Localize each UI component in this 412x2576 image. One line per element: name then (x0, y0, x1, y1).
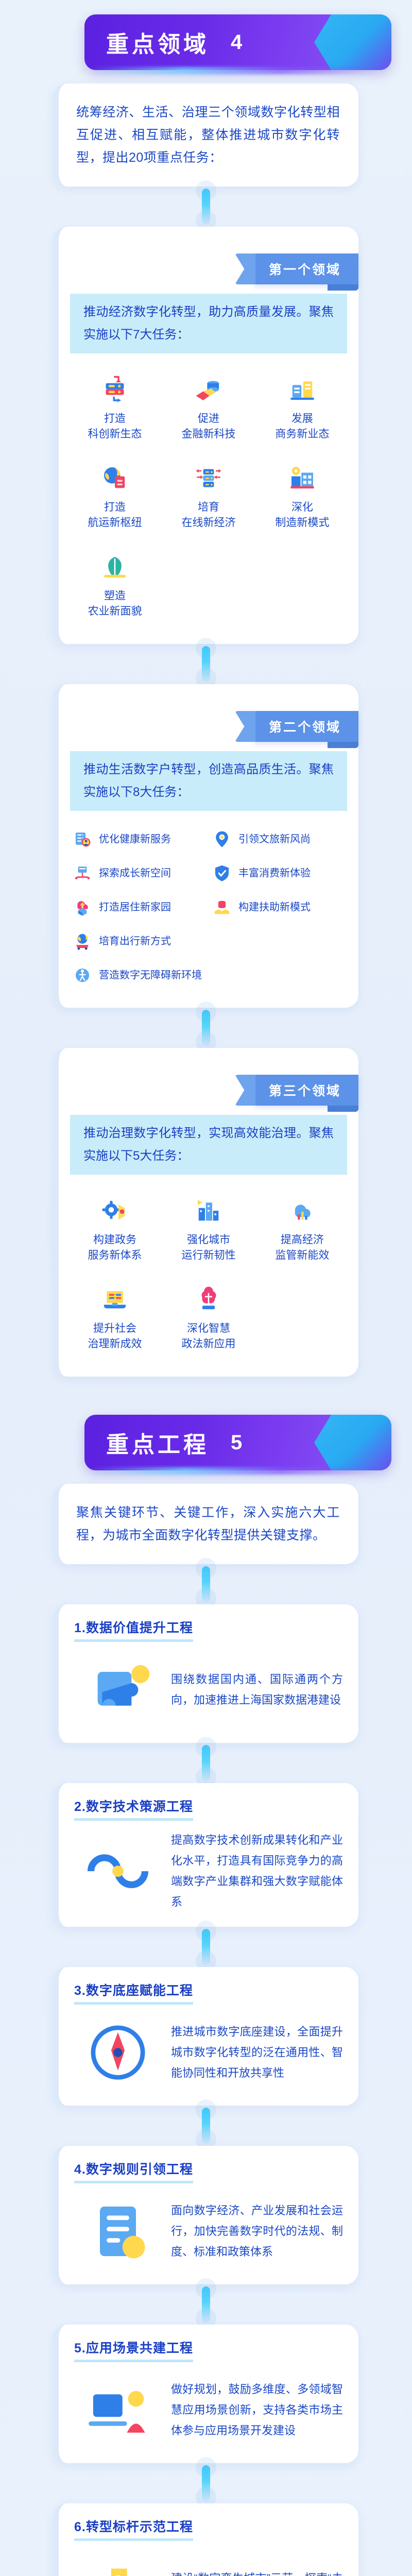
task-label: 打造 航运新枢纽 (88, 500, 142, 531)
domain-card-1: 第一个领域推动经济数字化转型，助力高质量发展。聚焦实施以下7大任务：打造 科创新… (54, 227, 358, 644)
project-text-6: 建设“数字孪生城市”示范，探索“未来城市”区域标杆实践 (171, 2568, 343, 2576)
shield-consume-icon (212, 863, 232, 884)
fintech-hand-icon (192, 373, 225, 406)
rules-doc-icon (74, 2193, 162, 2270)
task-label: 构建扶助新模式 (238, 900, 311, 914)
task-label: 营造数字无障碍新环境 (99, 968, 202, 982)
card-connector (54, 2106, 358, 2146)
home-cloud-icon (72, 897, 93, 918)
task-label: 深化智慧 政法新应用 (181, 1321, 235, 1352)
domain-subtitle-2: 推动生活数字户转型，创造高品质生活。聚焦实施以下8大任务： (70, 751, 347, 811)
laptop-social-icon (98, 1283, 131, 1316)
task-label: 提高经济 监管新能效 (275, 1232, 329, 1263)
infographic-page: 重点领域 4 统筹经济、生活、治理三个领域数字化转型相互促进、相互赋能，整体推进… (0, 0, 412, 2576)
domain-task-grid-1: 打造 科创新生态促进 金融新科技发展 商务新业态打造 航运新枢纽培育 在线新经济… (59, 353, 358, 629)
city-run-icon (192, 1194, 225, 1227)
health-server-icon (72, 829, 93, 850)
task-item[interactable]: 打造 科创新生态 (68, 363, 162, 451)
server-exchange-icon (192, 462, 225, 495)
task-item[interactable]: 提高经济 监管新能效 (255, 1184, 349, 1273)
transport-globe-icon (72, 931, 93, 952)
project-text-4: 面向数字经济、产业发展和社会运行，加快完善数字时代的法规、制度、标准和政策体系 (171, 2200, 343, 2262)
task-label: 引领文旅新风尚 (238, 832, 311, 846)
task-label: 发展 商务新业态 (275, 411, 329, 442)
card-connector (54, 1743, 358, 1783)
task-item[interactable]: 促进 金融新科技 (162, 363, 255, 451)
domain-ribbon-3: 第三个领域 (253, 1075, 358, 1106)
compass-base-icon (74, 2014, 162, 2091)
task-label: 构建政务 服务新体系 (88, 1232, 142, 1263)
project-text-3: 推进城市数字底座建设，全面提升城市数字化转型的泛在通用性、智能协同性和开放共享性 (171, 2022, 343, 2083)
farm-leaf-icon (98, 550, 131, 583)
chapter-domains-banner: 重点领域 4 (84, 14, 391, 70)
shop-window-icon (286, 373, 319, 406)
project-title-4: 4.数字规则引领工程 (74, 2159, 193, 2183)
banner-glow (89, 1467, 377, 1475)
card-connector (54, 644, 358, 684)
task-label: 提升社会 治理新成效 (88, 1321, 142, 1352)
task-item[interactable]: 深化智慧 政法新应用 (162, 1273, 255, 1361)
project-title-2: 2.数字技术策源工程 (74, 1797, 193, 1821)
econ-cloud-icon (286, 1194, 319, 1227)
task-label: 培育 在线新经济 (181, 500, 235, 531)
card-transfer-icon (98, 373, 131, 406)
domains-intro-text: 统筹经济、生活、治理三个领域数字化转型相互促进、相互赋能，整体推进城市数字化转型… (76, 101, 340, 169)
task-label: 深化 制造新模式 (275, 500, 329, 531)
task-item[interactable]: 引领文旅新风尚 (209, 822, 348, 856)
task-item[interactable]: 提升社会 治理新成效 (68, 1273, 162, 1361)
domain-subtitle-3: 推动治理数字化转型，实现高效能治理。聚焦实施以下5大任务： (70, 1115, 347, 1175)
chapter-domains-number: 4 (231, 31, 242, 54)
task-label: 探索成长新空间 (99, 866, 171, 880)
projects-root: 1.数据价值提升工程围绕数据国内通、国际通两个方向，加速推进上海国家数据港建设2… (0, 1564, 412, 2576)
card-connector (54, 1564, 358, 1604)
project-text-5: 做好规划，鼓励多维度、多领域智慧应用场景创新，支持各类市场主体参与应用场景开发建… (171, 2379, 343, 2441)
task-item[interactable]: 打造居住新家园 (69, 890, 209, 924)
project-card-2: 2.数字技术策源工程提高数字技术创新成果转化和产业化水平，打造具有国际竞争力的高… (54, 1783, 358, 1927)
accessibility-icon (72, 965, 93, 986)
task-item[interactable]: 构建扶助新模式 (209, 890, 348, 924)
task-label: 打造 科创新生态 (88, 411, 142, 442)
domain-card-2: 第二个领域推动生活数字户转型，创造高品质生活。聚焦实施以下8大任务：优化健康新服… (54, 684, 358, 1008)
task-label: 强化城市 运行新韧性 (181, 1232, 235, 1263)
domain-ribbon-1: 第一个领域 (253, 253, 358, 284)
growth-space-icon (72, 863, 93, 884)
task-item[interactable]: 培育出行新方式 (69, 924, 209, 958)
task-item[interactable]: 深化 制造新模式 (255, 451, 349, 540)
domains-root: 第一个领域推动经济数字化转型，助力高质量发展。聚焦实施以下7大任务：打造 科创新… (0, 187, 412, 1377)
task-item[interactable]: 营造数字无障碍新环境 (69, 958, 348, 992)
task-label: 塑造 农业新面貌 (88, 588, 142, 619)
project-title-3: 3.数字底座赋能工程 (74, 1980, 193, 2005)
chapter-domains-title: 重点领域 (106, 26, 209, 59)
chapter-projects-title: 重点工程 (106, 1426, 209, 1459)
scenario-desk-icon (74, 2371, 162, 2449)
task-item[interactable]: 塑造 农业新面貌 (68, 540, 162, 629)
card-connector (54, 2463, 358, 2503)
project-card-5: 5.应用场景共建工程做好规划，鼓励多维度、多领域智慧应用场景创新，支持各类市场主… (54, 2325, 358, 2463)
domain-card-3: 第三个领域推动治理数字化转型，实现高效能治理。聚焦实施以下5大任务：构建政务 服… (54, 1048, 358, 1377)
task-item[interactable]: 培育 在线新经济 (162, 451, 255, 540)
project-text-1: 围绕数据国内通、国际通两个方向，加速推进上海国家数据港建设 (171, 1669, 343, 1710)
project-text-2: 提高数字技术创新成果转化和产业化水平，打造具有国际竞争力的高端数字产业集群和强大… (171, 1830, 343, 1912)
task-label: 培育出行新方式 (99, 934, 171, 948)
domain-task-list-2: 优化健康新服务引领文旅新风尚探索成长新空间丰富消费新体验打造居住新家园构建扶助新… (59, 811, 358, 992)
banner-glow (89, 67, 377, 74)
project-card-3: 3.数字底座赋能工程推进城市数字底座建设，全面提升城市数字化转型的泛在通用性、智… (54, 1967, 358, 2106)
task-label: 促进 金融新科技 (181, 411, 235, 442)
projects-intro-text: 聚焦关键环节、关键工作，深入实施六大工程，为城市全面数字化转型提供关键支撑。 (76, 1501, 340, 1547)
task-label: 优化健康新服务 (99, 832, 171, 846)
chapter-projects-banner: 重点工程 5 (84, 1415, 391, 1470)
twin-city-icon (74, 2550, 162, 2576)
card-connector (54, 1927, 358, 1967)
gov-gear-icon (98, 1194, 131, 1227)
card-connector (54, 2284, 358, 2325)
chapter-domains: 重点领域 4 (51, 0, 360, 75)
puzzle-data-icon (74, 1651, 162, 1728)
factory-gear-icon (286, 462, 319, 495)
domain-ribbon-2: 第二个领域 (253, 711, 358, 742)
projects-intro-card: 聚焦关键环节、关键工作，深入实施六大工程，为城市全面数字化转型提供关键支撑。 (54, 1484, 358, 1564)
task-item[interactable]: 探索成长新空间 (69, 856, 209, 890)
project-card-4: 4.数字规则引领工程面向数字经济、产业发展和社会运行，加快完善数字时代的法规、制… (54, 2146, 358, 2284)
globe-doc-icon (98, 462, 131, 495)
project-card-6: 6.转型标杆示范工程建设“数字孪生城市”示范，探索“未来城市”区域标杆实践 (54, 2503, 358, 2576)
brain-law-icon (192, 1283, 225, 1316)
travel-pin-icon (212, 829, 232, 850)
task-item[interactable]: 优化健康新服务 (69, 822, 209, 856)
project-title-6: 6.转型标杆示范工程 (74, 2517, 193, 2541)
domain-task-grid-3: 构建政务 服务新体系强化城市 运行新韧性提高经济 监管新能效提升社会 治理新成效… (59, 1175, 358, 1361)
helping-hands-icon (212, 897, 232, 918)
project-card-1: 1.数据价值提升工程围绕数据国内通、国际通两个方向，加速推进上海国家数据港建设 (54, 1604, 358, 1743)
project-title-5: 5.应用场景共建工程 (74, 2338, 193, 2362)
chapter-projects: 重点工程 5 (51, 1400, 360, 1476)
card-connector (54, 1008, 358, 1048)
task-label: 丰富消费新体验 (238, 866, 311, 880)
chapter-projects-number: 5 (231, 1431, 242, 1454)
task-item[interactable]: 发展 商务新业态 (255, 363, 349, 451)
task-item[interactable]: 丰富消费新体验 (209, 856, 348, 890)
task-item[interactable]: 强化城市 运行新韧性 (162, 1184, 255, 1273)
infinity-tech-icon (74, 1833, 162, 1910)
project-title-1: 1.数据价值提升工程 (74, 1618, 193, 1642)
domains-intro-card: 统筹经济、生活、治理三个领域数字化转型相互促进、相互赋能，整体推进城市数字化转型… (54, 83, 358, 187)
task-item[interactable]: 打造 航运新枢纽 (68, 451, 162, 540)
task-label: 打造居住新家园 (99, 900, 171, 914)
card-connector (54, 187, 358, 227)
domain-subtitle-1: 推动经济数字化转型，助力高质量发展。聚焦实施以下7大任务： (70, 294, 347, 353)
task-item[interactable]: 构建政务 服务新体系 (68, 1184, 162, 1273)
